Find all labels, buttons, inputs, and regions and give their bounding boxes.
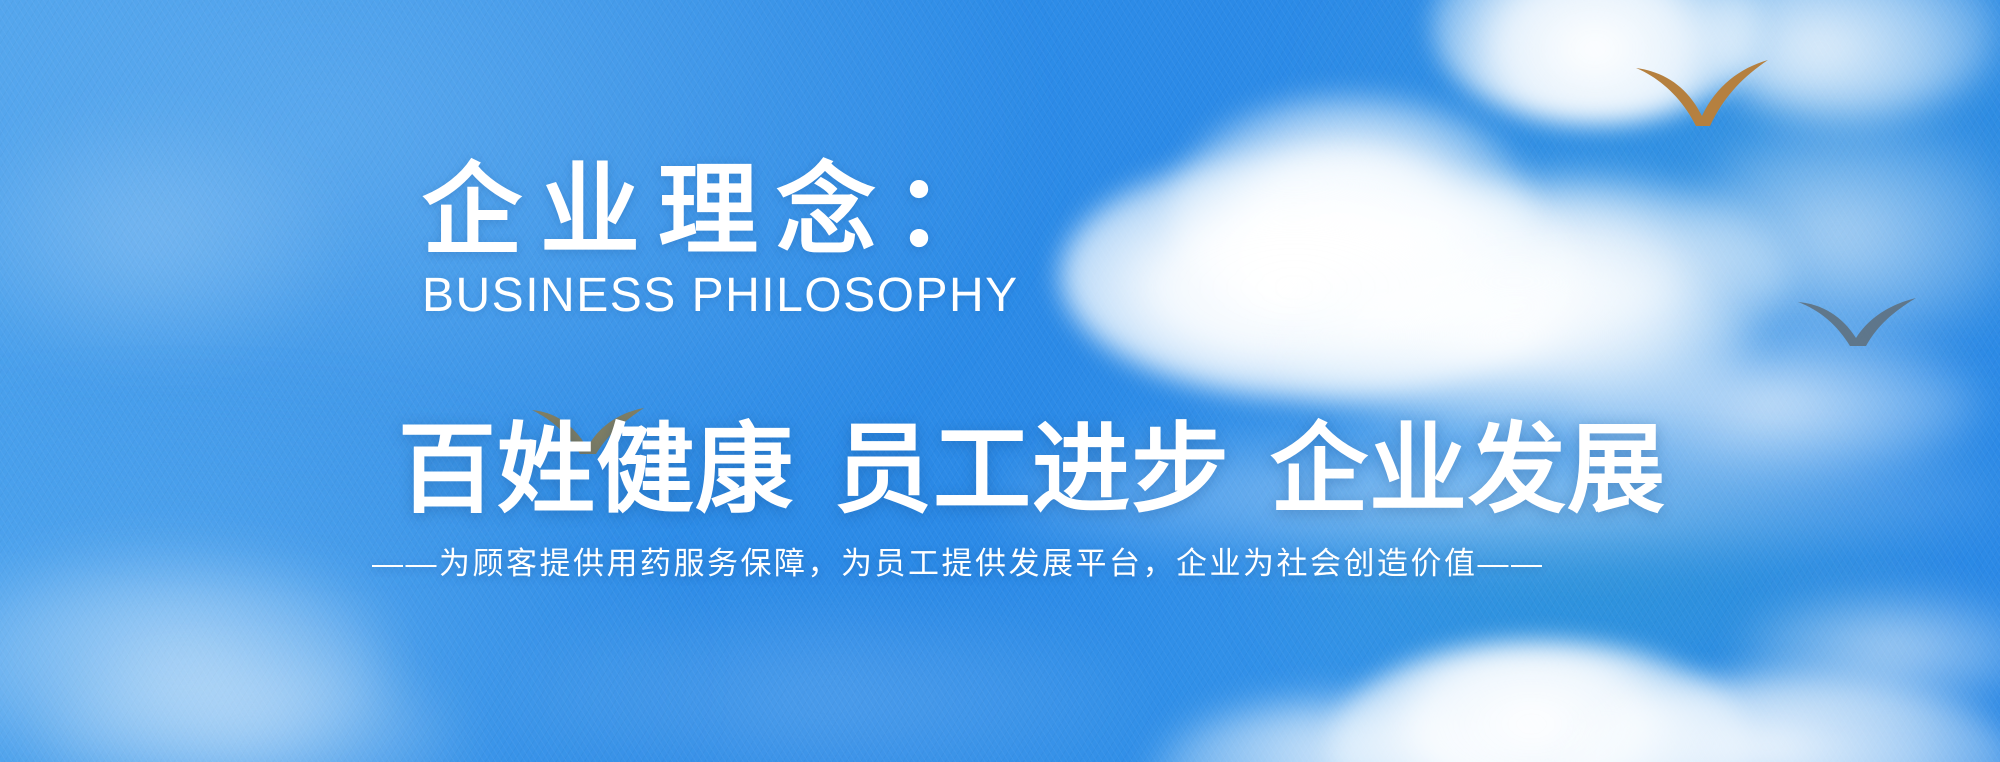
slogan-part-1: 百姓健康 (398, 414, 794, 524)
slogan-part-3: 企业发展 (1270, 414, 1666, 524)
slogan-part-2: 员工进步 (834, 414, 1230, 524)
tagline-text: ——为顾客提供用药服务保障，为员工提供发展平台，企业为社会创造价值—— (372, 545, 1545, 582)
slogan-line: 百姓健康员工进步企业发展 (398, 418, 1666, 522)
title-group: 企业理念： BUSINESS PHILOSOPHY (422, 158, 1019, 323)
banner-text-content: 企业理念： BUSINESS PHILOSOPHY 百姓健康员工进步企业发展 —… (0, 0, 2000, 762)
page-subtitle-english: BUSINESS PHILOSOPHY (422, 270, 1019, 323)
page-title-chinese: 企业理念： (422, 158, 1019, 264)
business-philosophy-banner: 企业理念： BUSINESS PHILOSOPHY 百姓健康员工进步企业发展 —… (0, 0, 2000, 762)
